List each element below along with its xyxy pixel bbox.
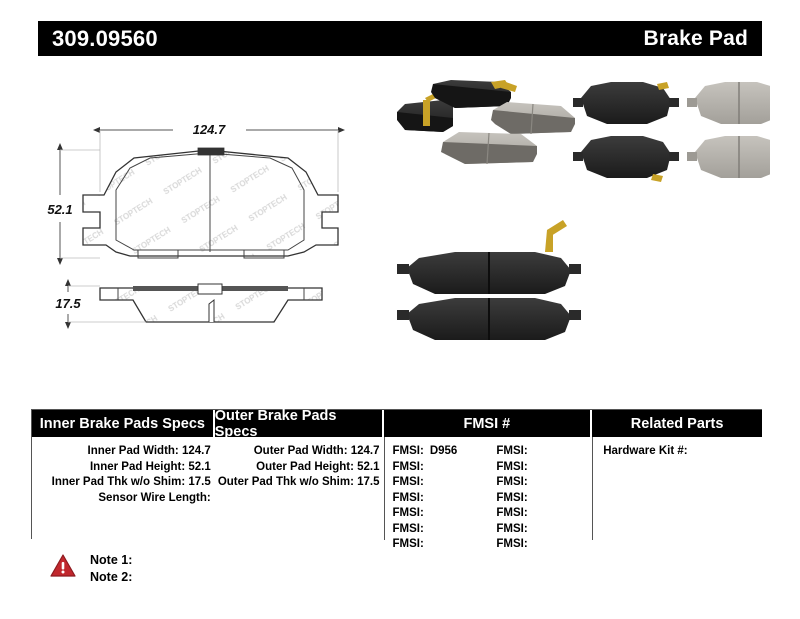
pad-front-view	[83, 148, 338, 258]
spec-label: Hardware Kit #:	[603, 445, 687, 457]
pad-flat-black-bottom	[573, 136, 679, 182]
spec-row: FMSI:	[393, 506, 489, 522]
spec-row: Outer Pad Width: 124.7	[215, 444, 380, 460]
spec-row: FMSI:	[496, 491, 592, 507]
spec-label: FMSI:	[393, 461, 424, 473]
table-body-row: Inner Pad Width: 124.7Inner Pad Height: …	[32, 437, 762, 540]
width-dimension-label: 124.7	[193, 122, 226, 137]
notes-block: Note 1:Note 2:	[50, 552, 132, 586]
part-number: 309.09560	[52, 26, 158, 52]
spec-label: FMSI:	[496, 492, 527, 504]
spec-value	[528, 445, 534, 457]
spec-row: Outer Pad Thk w/o Shim: 17.5	[215, 475, 380, 491]
spec-label: FMSI:	[393, 445, 424, 457]
spec-value	[424, 461, 430, 473]
pad-flat-gray-top	[687, 82, 770, 124]
spec-label: FMSI:	[496, 476, 527, 488]
product-photos	[395, 80, 770, 370]
outer-specs-cell: Outer Pad Width: 124.7Outer Pad Height: …	[215, 437, 384, 540]
spec-row: FMSI:	[393, 475, 489, 491]
spec-value	[528, 507, 534, 519]
spec-value	[528, 523, 534, 535]
spec-value	[424, 507, 430, 519]
spec-label: FMSI:	[393, 492, 424, 504]
spec-value: 124.7	[179, 445, 211, 457]
column-header-outer-specs: Outer Brake Pads Specs	[215, 410, 384, 437]
spec-value	[424, 523, 430, 535]
spec-row: Inner Pad Width: 124.7	[32, 444, 211, 460]
fmsi-column-left: FMSI:D956FMSI:FMSI:FMSI:FMSI:FMSI:FMSI:	[385, 444, 489, 540]
spec-value: 52.1	[354, 461, 380, 473]
warning-triangle-icon	[50, 554, 76, 582]
column-header-related-parts: Related Parts	[592, 410, 762, 437]
spec-label: FMSI:	[393, 476, 424, 488]
spec-value: 52.1	[185, 461, 211, 473]
spec-label: FMSI:	[393, 507, 424, 519]
photo-angled-group	[397, 80, 575, 164]
spec-label: FMSI:	[496, 507, 527, 519]
spec-row: Inner Pad Thk w/o Shim: 17.5	[32, 475, 211, 491]
spec-value: 17.5	[185, 476, 211, 488]
spec-label: FMSI:	[496, 523, 527, 535]
note-line: Note 1:	[90, 552, 132, 569]
note-line: Note 2:	[90, 569, 132, 586]
spec-label: Inner Pad Thk w/o Shim:	[52, 476, 186, 488]
inner-specs-cell: Inner Pad Width: 124.7Inner Pad Height: …	[32, 437, 215, 540]
column-header-inner-specs: Inner Brake Pads Specs	[32, 410, 215, 437]
spec-value: 124.7	[348, 445, 380, 457]
spec-label: Outer Pad Thk w/o Shim:	[218, 476, 354, 488]
spec-row: FMSI:D956	[393, 444, 489, 460]
spec-label: Outer Pad Width:	[254, 445, 348, 457]
spec-row: FMSI:	[496, 506, 592, 522]
spec-row: Inner Pad Height: 52.1	[32, 460, 211, 476]
spec-row: FMSI:	[393, 537, 489, 553]
spec-value	[424, 538, 430, 550]
photo-flat-pads	[573, 82, 770, 182]
spec-value	[424, 492, 430, 504]
spec-value	[424, 476, 430, 488]
fmsi-column-right: FMSI:FMSI:FMSI:FMSI:FMSI:FMSI:FMSI:	[488, 444, 592, 540]
spec-row: Sensor Wire Length:	[32, 491, 211, 507]
spec-row: FMSI:	[393, 460, 489, 476]
spec-value	[528, 476, 534, 488]
spec-value: 17.5	[354, 476, 380, 488]
spec-value	[528, 492, 534, 504]
pad-edge-top	[397, 220, 581, 294]
spec-row: FMSI:	[393, 522, 489, 538]
table-header-row: Inner Brake Pads Specs Outer Brake Pads …	[32, 410, 762, 437]
spec-row: Hardware Kit #:	[603, 444, 762, 460]
spec-value	[528, 461, 534, 473]
header-bar: 309.09560 Brake Pad	[38, 21, 762, 56]
product-title: Brake Pad	[643, 27, 748, 51]
spec-label: Inner Pad Width:	[88, 445, 179, 457]
spec-label: FMSI:	[496, 538, 527, 550]
spec-row: FMSI:	[496, 444, 592, 460]
spec-row: FMSI:	[496, 537, 592, 553]
pad-edge-bottom	[397, 298, 581, 340]
spec-row: Outer Pad Height: 52.1	[215, 460, 380, 476]
spec-label: FMSI:	[393, 523, 424, 535]
spec-label: Inner Pad Height:	[90, 461, 185, 473]
spec-label: FMSI:	[496, 461, 527, 473]
pad-side-view	[100, 284, 322, 322]
spec-label: Outer Pad Height:	[256, 461, 354, 473]
column-header-fmsi: FMSI #	[384, 410, 593, 437]
pad-flat-black-top	[573, 82, 679, 124]
related-parts-cell: Hardware Kit #:	[592, 437, 762, 540]
height-dimension-label: 52.1	[47, 202, 72, 217]
spec-row: FMSI:	[496, 522, 592, 538]
spec-value	[528, 538, 534, 550]
photo-edge-pads	[397, 220, 581, 340]
thickness-dimension-label: 17.5	[55, 296, 81, 311]
spec-row: FMSI:	[496, 460, 592, 476]
spec-value: D956	[424, 445, 458, 457]
spec-label: FMSI:	[393, 538, 424, 550]
pad-angled-3	[491, 102, 575, 134]
notes-text: Note 1:Note 2:	[90, 552, 132, 586]
spec-label: FMSI:	[496, 445, 527, 457]
fmsi-cell: FMSI:D956FMSI:FMSI:FMSI:FMSI:FMSI:FMSI: …	[384, 437, 593, 540]
pad-angled-4	[441, 132, 537, 164]
spec-label: Sensor Wire Length:	[98, 492, 210, 504]
technical-drawing: STOPTECH 124.7	[38, 100, 388, 370]
spec-row: FMSI:	[393, 491, 489, 507]
spec-row: FMSI:	[496, 475, 592, 491]
pad-flat-gray-bottom	[687, 136, 770, 178]
specifications-table: Inner Brake Pads Specs Outer Brake Pads …	[31, 409, 762, 539]
